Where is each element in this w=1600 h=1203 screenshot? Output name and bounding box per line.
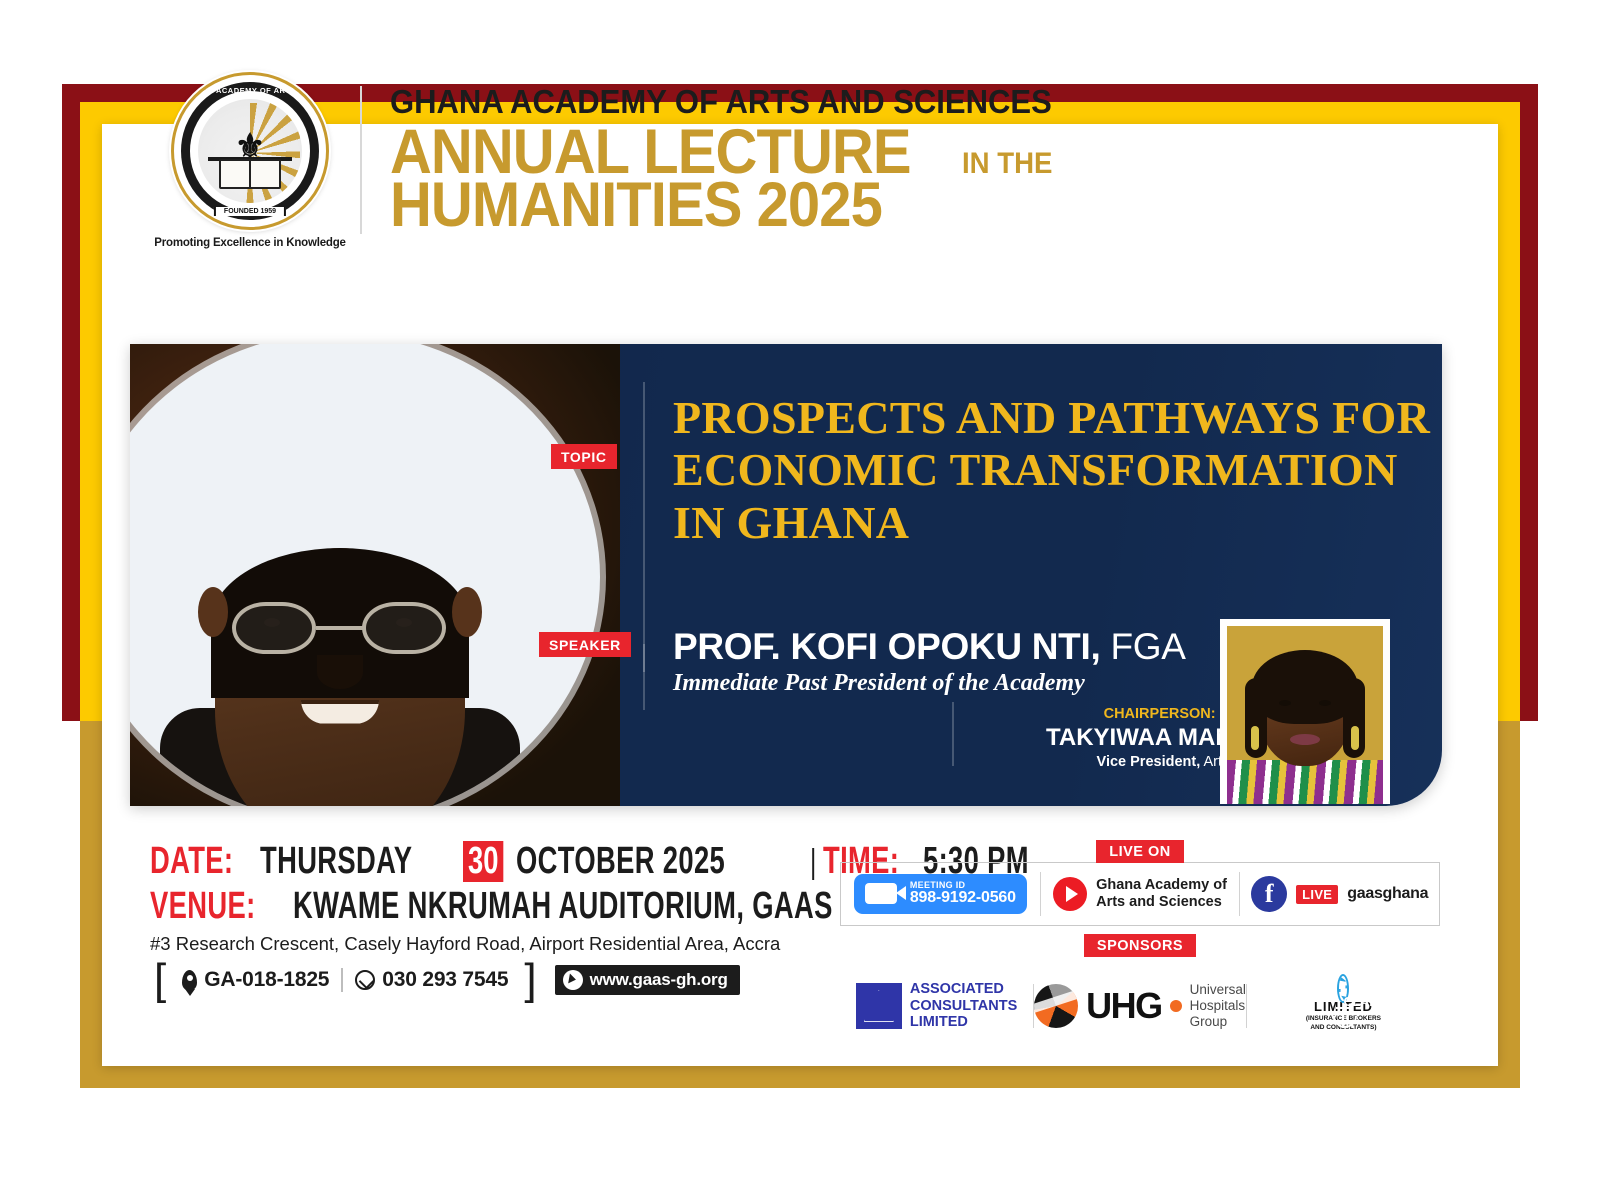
portrait-mouth	[301, 700, 379, 724]
phone-icon	[355, 970, 375, 990]
title-in-the: IN THE	[962, 148, 1052, 180]
broadcast-and-sponsors: LIVE ON MEETING ID 898-9192-0560 Ghana A…	[840, 840, 1440, 1047]
gps-value: GA-018-1825	[204, 968, 329, 992]
website-value: www.gaas-gh.org	[590, 970, 728, 990]
chair-portrait-cloth	[1227, 760, 1383, 804]
gps-address: GA-018-1825	[170, 968, 341, 992]
sponsor-uhg: UHG Universal Hospitals Group	[1034, 982, 1246, 1030]
logo-tagline: Promoting Excellence in Knowledge	[150, 237, 350, 249]
sponsor-claim: CLAIM LIMITED (INSURANCE BROKERS AND CON…	[1247, 980, 1440, 1032]
uhg-wordmark: UHG	[1086, 985, 1162, 1027]
poster-header: GHANA ACADEMY OF ARTS AND SCIENCES ⚜ FOU…	[150, 65, 1330, 255]
youtube-line-2: Arts and Sciences	[1096, 894, 1227, 911]
acl-line-3: LIMITED	[910, 1014, 1017, 1031]
live-on-heading-wrap: LIVE ON	[840, 840, 1440, 863]
phone-contact[interactable]: 030 293 7545	[343, 968, 520, 992]
youtube-line-1: Ghana Academy of	[1096, 877, 1227, 894]
topic-divider	[643, 382, 645, 672]
portrait-ear-left	[198, 587, 228, 637]
speaker-subtitle: Immediate Past President of the Academy	[673, 670, 1085, 697]
acl-line-2: CONSULTANTS	[910, 998, 1017, 1015]
phone-value: 030 293 7545	[382, 968, 508, 992]
portrait-ear-right	[452, 587, 482, 637]
video-camera-icon	[865, 883, 897, 904]
zoom-channel[interactable]: MEETING ID 898-9192-0560	[841, 874, 1040, 914]
speaker-name-text: PROF. KOFI OPOKU NTI,	[673, 626, 1100, 667]
venue-label: VENUE:	[150, 885, 256, 928]
sponsor-associated-consultants: ASSOCIATED CONSULTANTS LIMITED	[840, 981, 1033, 1031]
facebook-live-badge: LIVE	[1296, 885, 1338, 904]
date-time-row: DATE: THURSDAY 30 OCTOBER 2025 | TIME: 5…	[150, 840, 850, 883]
chair-portrait-eye-left	[1279, 700, 1291, 706]
header-divider	[360, 86, 362, 234]
chairperson-photo	[1220, 619, 1390, 804]
uhg-sub-3: Group	[1190, 1014, 1246, 1030]
associated-consultants-logo-icon	[856, 983, 902, 1029]
topic-badge: TOPIC	[551, 444, 617, 469]
zoom-text: MEETING ID 898-9192-0560	[910, 881, 1016, 907]
youtube-channel[interactable]: Ghana Academy of Arts and Sciences	[1041, 877, 1240, 911]
poster-footer: DATE: THURSDAY 30 OCTOBER 2025 | TIME: 5…	[150, 840, 1440, 1050]
globe-icon	[563, 970, 583, 990]
live-channels-panel: MEETING ID 898-9192-0560 Ghana Academy o…	[840, 862, 1440, 926]
chair-portrait-earring-right	[1351, 726, 1359, 750]
date-weekday: THURSDAY	[260, 840, 412, 883]
location-pin-icon	[182, 970, 197, 991]
uhg-sub-1: Universal	[1190, 982, 1246, 998]
portrait-glasses-bridge	[316, 626, 364, 630]
venue-address: #3 Research Crescent, Casely Hayford Roa…	[150, 933, 850, 955]
speaker-post-nominal: FGA	[1110, 626, 1185, 667]
seal-inner: ⚜	[198, 99, 302, 203]
facebook-handle: gaasghana	[1347, 885, 1428, 903]
portrait-glasses-left	[232, 602, 316, 654]
anchor-icon	[1342, 1010, 1344, 1028]
lecture-topic: PROSPECTS AND PATHWAYS FOR ECONOMIC TRAN…	[673, 392, 1433, 549]
chair-portrait-earring-left	[1251, 726, 1259, 750]
detail-separator: |	[810, 843, 816, 882]
uhg-logo-icon	[1034, 984, 1078, 1028]
speaker-divider	[643, 644, 645, 710]
header-text-block: GHANA ACADEMY OF ARTS AND SCIENCES ANNUA…	[388, 85, 1330, 236]
bracket-open: [	[150, 965, 170, 996]
bracket-close: ]	[520, 965, 540, 996]
date-label: DATE:	[150, 840, 233, 883]
uhg-dot-icon	[1170, 1000, 1182, 1012]
chair-label: CHAIRPERSON:	[1104, 706, 1216, 722]
chair-portrait-eye-right	[1319, 700, 1331, 706]
uhg-sub-2: Hospitals	[1190, 998, 1246, 1014]
speaker-name: PROF. KOFI OPOKU NTI, FGA	[673, 626, 1186, 668]
youtube-text: Ghana Academy of Arts and Sciences	[1096, 877, 1227, 910]
organization-name: GHANA ACADEMY OF ARTS AND SCIENCES	[390, 85, 1274, 118]
chair-divider	[952, 702, 954, 766]
seal-founded-text: FOUNDED 1959	[214, 207, 286, 216]
zoom-meeting-pill: MEETING ID 898-9192-0560	[854, 874, 1027, 914]
acl-line-1: ASSOCIATED	[910, 981, 1017, 998]
speaker-badge: SPEAKER	[539, 632, 631, 657]
title-humanities-2025: HUMANITIES 2025	[390, 176, 1255, 236]
claim-logo: CLAIM LIMITED (INSURANCE BROKERS AND CON…	[1306, 980, 1381, 1032]
chairperson-photo-inner	[1227, 626, 1383, 804]
sponsors-heading-wrap: SPONSORS	[840, 934, 1440, 957]
website-link[interactable]: www.gaas-gh.org	[555, 965, 740, 995]
speaker-portrait	[130, 344, 600, 806]
gaas-logo: GHANA ACADEMY OF ARTS AND SCIENCES ⚜ FOU…	[150, 72, 350, 249]
sponsors-panel: ASSOCIATED CONSULTANTS LIMITED UHG Unive…	[840, 965, 1440, 1047]
gaas-seal-icon: GHANA ACADEMY OF ARTS AND SCIENCES ⚜ FOU…	[171, 72, 329, 230]
claim-logo-icon: CLAIM	[1339, 976, 1347, 1001]
facebook-icon: f	[1251, 876, 1287, 912]
date-day: 30	[463, 841, 504, 882]
hero-banner: TOPIC SPEAKER PROSPECTS AND PATHWAYS FOR…	[130, 344, 1442, 806]
zoom-meeting-id-value: 898-9192-0560	[910, 890, 1016, 907]
facebook-channel[interactable]: f LIVE gaasghana	[1240, 876, 1439, 912]
contact-row: [ GA-018-1825 030 293 7545 ] www.gaas-gh…	[150, 965, 850, 996]
venue-row: VENUE: KWAME NKRUMAH AUDITORIUM, GAAS	[150, 885, 850, 928]
chair-portrait-mouth	[1290, 734, 1320, 745]
live-on-heading: LIVE ON	[1096, 840, 1184, 863]
associated-consultants-name: ASSOCIATED CONSULTANTS LIMITED	[910, 981, 1017, 1031]
sponsors-heading: SPONSORS	[1084, 934, 1196, 957]
portrait-glasses-right	[362, 602, 446, 654]
date-month-year: OCTOBER 2025	[516, 840, 725, 883]
chair-role-bold: Vice President,	[1097, 754, 1201, 770]
open-book-icon	[219, 159, 281, 189]
youtube-icon	[1053, 877, 1087, 911]
portrait-nose	[317, 655, 363, 689]
event-details: DATE: THURSDAY 30 OCTOBER 2025 | TIME: 5…	[150, 840, 850, 996]
venue-value: KWAME NKRUMAH AUDITORIUM, GAAS	[293, 885, 833, 928]
uhg-subtitle: Universal Hospitals Group	[1190, 982, 1246, 1030]
